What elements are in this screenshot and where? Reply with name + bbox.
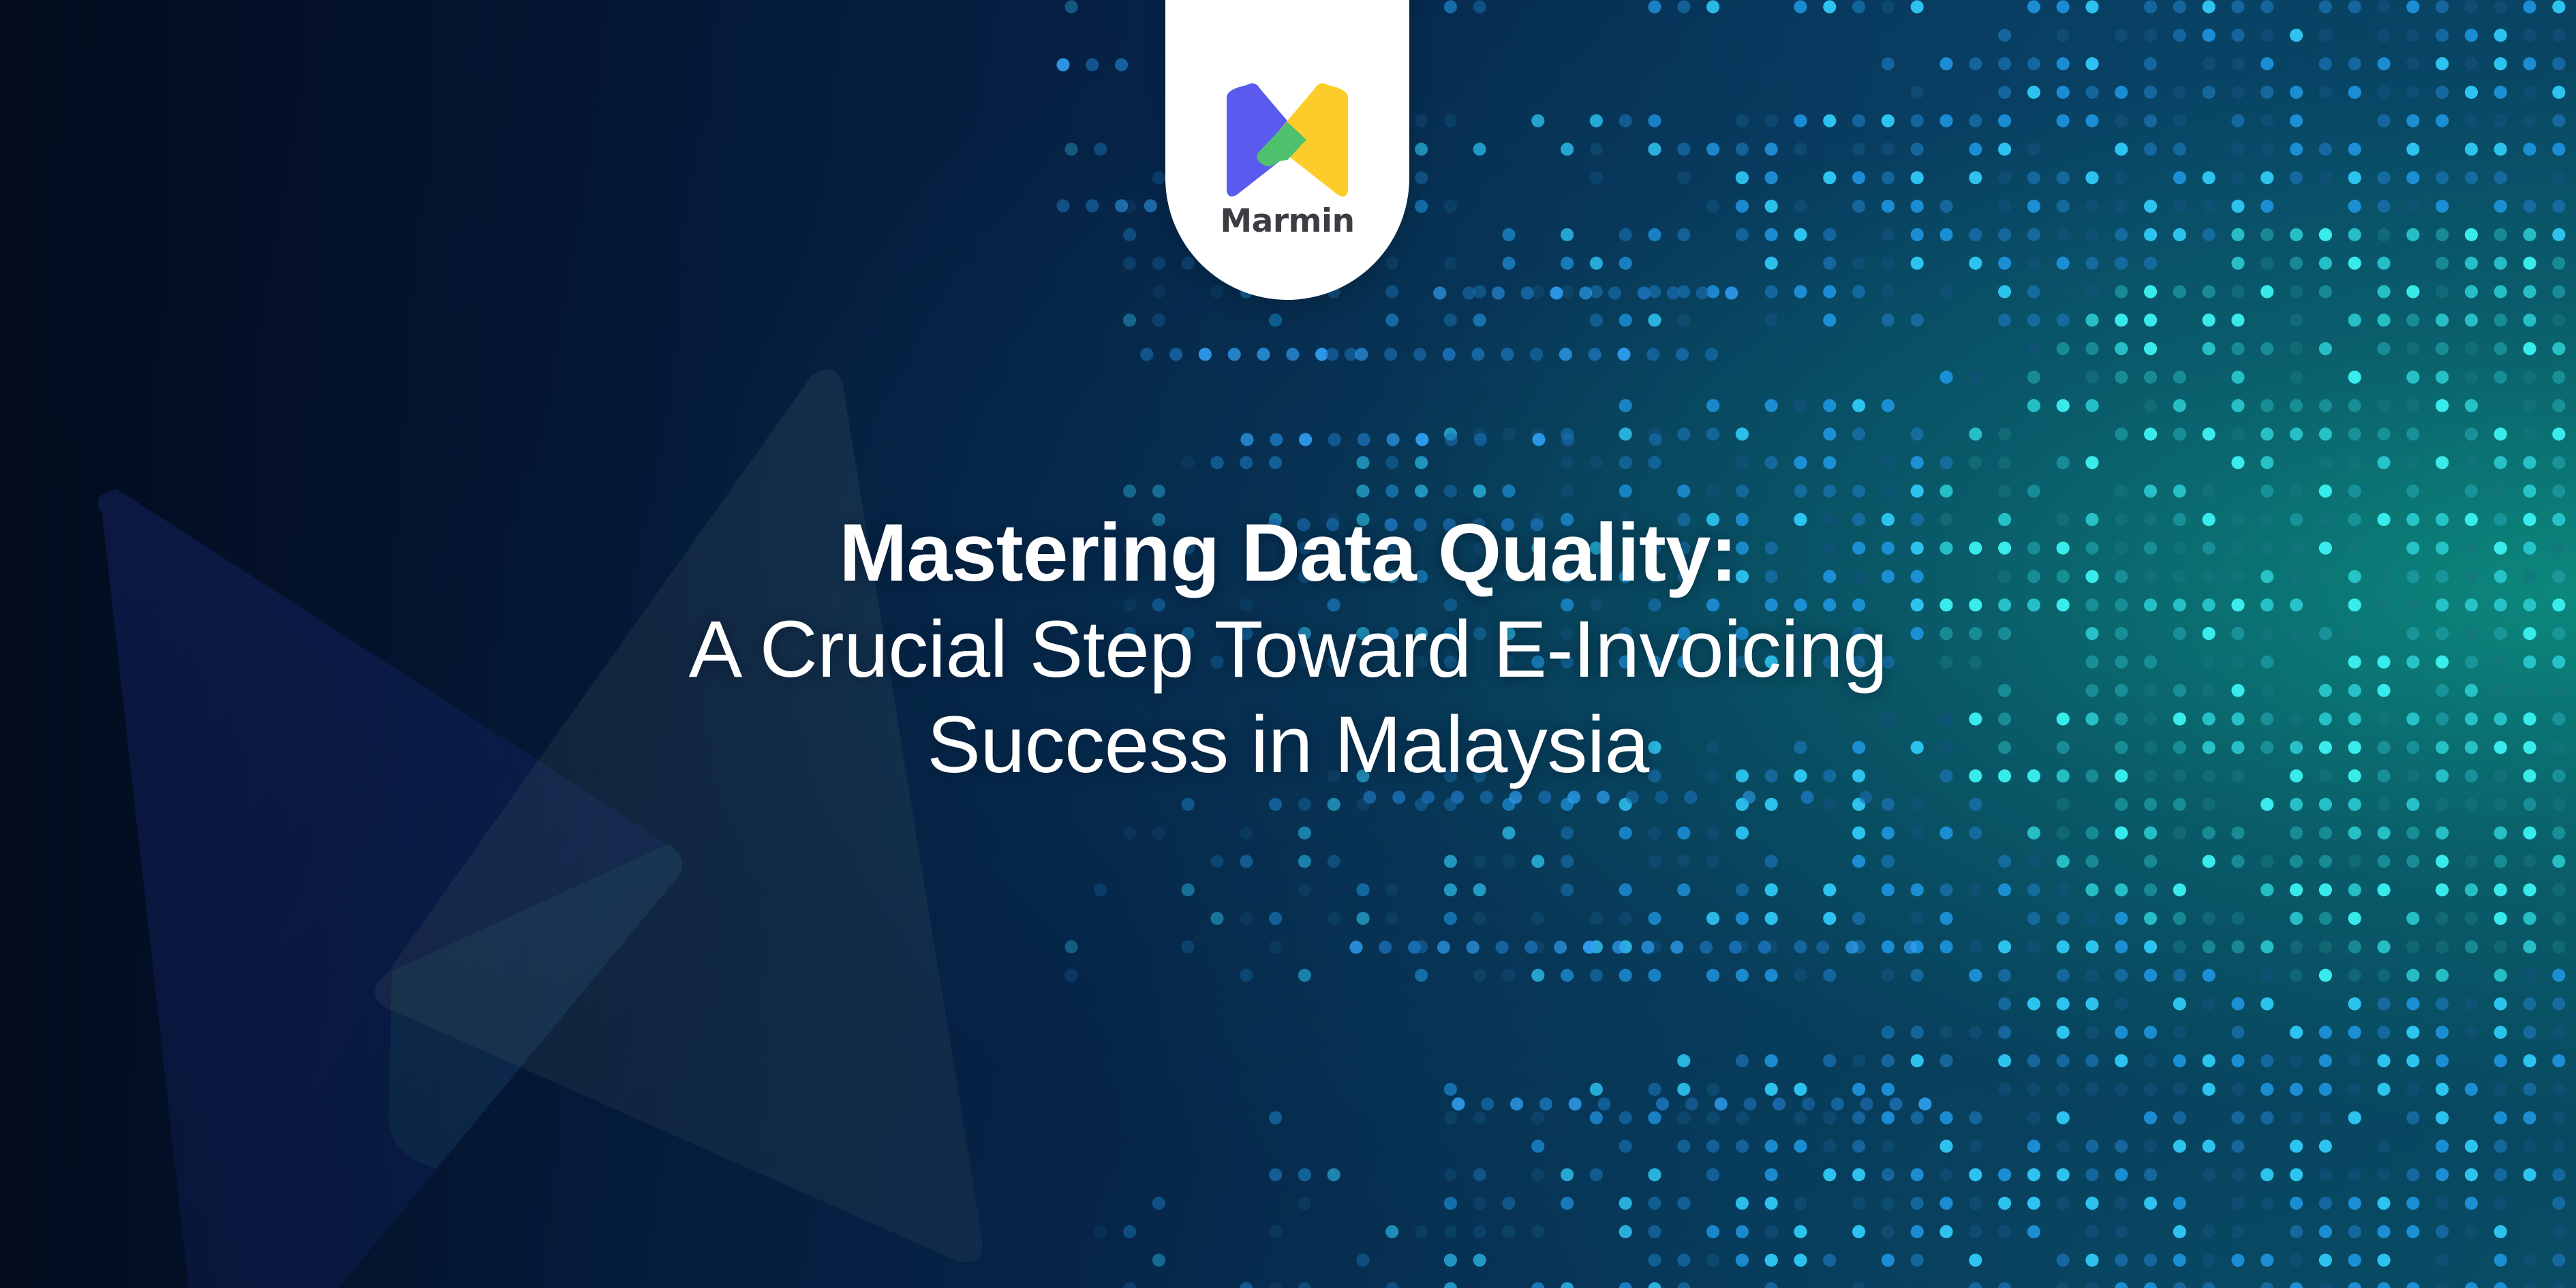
promo-banner: Marmin Mastering Data Quality: A Crucial… <box>0 0 2576 1288</box>
headline-line-3: Success in Malaysia <box>123 697 2453 793</box>
headline-line-1: Mastering Data Quality: <box>123 504 2453 602</box>
brand-wordmark: Marmin <box>1220 205 1354 237</box>
headline-line-2: A Crucial Step Toward E-Invoicing <box>123 602 2453 697</box>
marmin-triangles-logo-icon <box>1221 80 1354 201</box>
brand-logo-badge: Marmin <box>1165 0 1409 300</box>
headline-block: Mastering Data Quality: A Crucial Step T… <box>0 504 2576 793</box>
